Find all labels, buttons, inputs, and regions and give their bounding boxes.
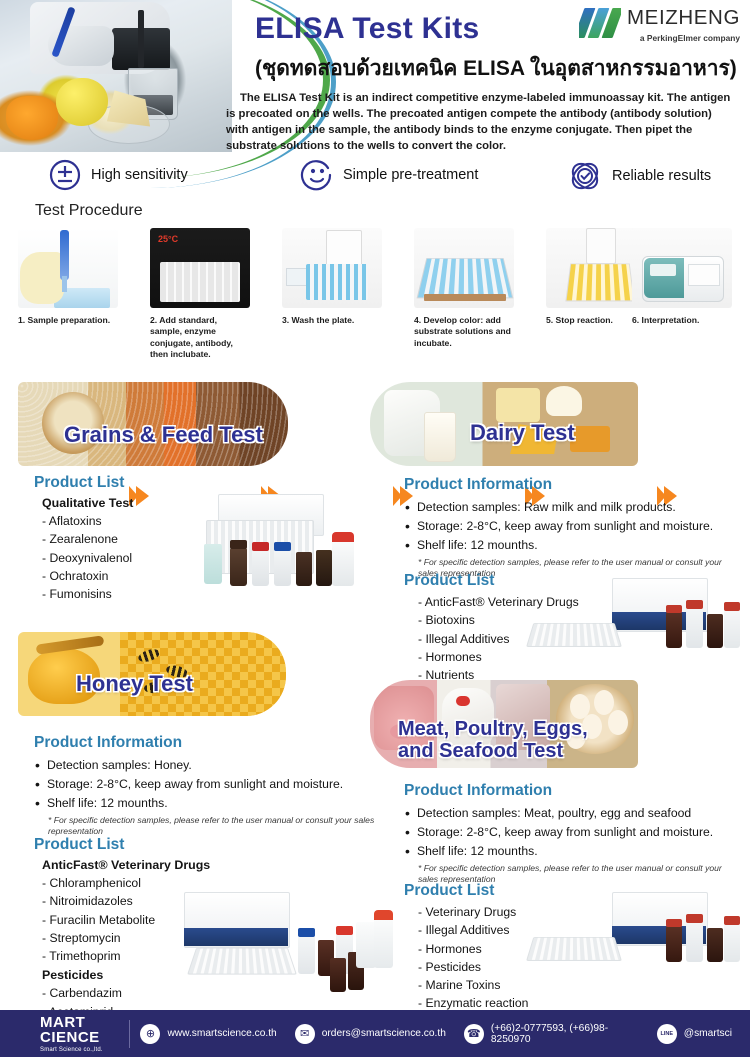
step-caption: 2. Add standard, sample, enzyme conjugat… [150,315,250,360]
step-image-interpretation [632,228,732,308]
info-item: Shelf life: 12 mounths. [34,794,384,813]
step-image-add-reagents: 25°C [150,228,250,308]
list-item: - Deoxynivalenol [42,549,209,567]
product-list-heading: Product List [34,474,209,492]
feature-label: Simple pre-treatment [343,167,478,183]
procedure-step-6: 6. Interpretation. [632,228,732,326]
list-subheading: AnticFast® Veterinary Drugs [42,858,234,872]
feature-reliable-results: Reliable results [567,158,711,194]
honey-product-info-block: Product Information Detection samples: H… [34,734,384,838]
page-subtitle-thai: (ชุดทดสอบด้วยเทคนิค ELISA ในอุตสาหกรรมอา… [255,52,737,85]
globe-icon: ⊕ [140,1024,160,1044]
step-caption: 1. Sample preparation. [18,315,118,326]
step-caption: 3. Wash the plate. [282,315,382,326]
procedure-step-2: 25°C 2. Add standard, sample, enzyme con… [150,228,250,360]
procedure-step-5: 5. Stop reaction. [546,228,646,326]
feature-simple-pretreatment: Simple pre-treatment [300,158,478,192]
footer-email-text: orders@smartscience.co.th [322,1028,446,1039]
feature-label: High sensitivity [91,167,188,183]
banner-title-line2: and Seafood Test [398,740,563,762]
check-target-icon [567,158,603,194]
banner-title: Meat, Poultry, Eggs, and Seafood Test [398,718,588,763]
list-item: - Aflatoxins [42,512,209,530]
banner-grains-feed: Grains & Feed Test [18,382,288,466]
meizheng-logo-mark [579,8,621,38]
step-image-wash-plate [282,228,382,308]
info-item: Storage: 2-8°C, keep away from sunlight … [404,517,740,536]
footer-line-id[interactable]: LINE @smartsci [657,1024,732,1044]
banner-title: Honey Test [76,671,193,697]
procedure-step-1: 1. Sample preparation. [18,228,118,326]
footer-line-text: @smartsci [684,1028,732,1039]
smiley-face-icon [300,158,334,192]
list-item: - Veterinary Drugs [418,903,614,921]
envelope-icon: ✉ [295,1024,315,1044]
step-caption: 6. Interpretation. [632,315,732,326]
banner-title: Grains & Feed Test [64,422,263,448]
line-chat-icon: LINE [657,1024,677,1044]
logo-line-3: Smart Science co.,ltd. [40,1047,127,1053]
list-item: - Ochratoxin [42,567,209,585]
page-title: ELISA Test Kits [255,12,480,46]
step-image-develop-color [414,228,514,308]
footer-contact-bar: MART CIENCE Smart Science co.,ltd. ⊕ www… [0,1010,750,1057]
incubator-temperature: 25°C [158,234,178,244]
list-item: - Fumonisins [42,585,209,603]
banner-title-line1: Meat, Poultry, Eggs, [398,718,588,740]
product-list-heading: Product List [404,882,614,900]
procedure-step-3: 3. Wash the plate. [282,228,382,326]
product-info-heading: Product Information [404,476,740,494]
info-item: Shelf life: 12 mounths. [404,842,740,861]
info-item: Shelf life: 12 mounths. [404,536,740,555]
product-kit-photo-grains [196,492,356,604]
footer-website-text: www.smartscience.co.th [167,1028,276,1039]
feature-list: High sensitivity Simple pre-treatment Re… [0,158,750,200]
banner-dairy: Dairy Test [370,382,638,466]
footer-website[interactable]: ⊕ www.smartscience.co.th [140,1024,276,1044]
step-image-sample-preparation [18,228,118,308]
footer-phone[interactable]: ☎ (+66)2-0777593, (+66)98-8250970 [464,1023,639,1045]
feature-high-sensitivity: High sensitivity [48,158,188,192]
intro-paragraph: The ELISA Test Kit is an indirect compet… [226,90,736,154]
meat-product-info-block: Product Information Detection samples: M… [404,782,740,886]
list-item: - Hormones [418,648,614,666]
product-list-heading: Product List [34,836,234,854]
product-kit-photo-dairy [600,578,740,670]
brand-tagline: a PerkingElmer company [627,33,740,43]
brand-name: MEIZHENG [627,8,740,29]
info-item: Detection samples: Raw milk and milk pro… [404,498,740,517]
dairy-product-info-block: Product Information Detection samples: R… [404,476,740,580]
test-procedure-title: Test Procedure [35,202,143,220]
logo-line-1: MART [40,1015,127,1030]
list-subheading: Qualitative Test [42,496,209,510]
step-image-stop-reaction [546,228,646,308]
list-item: - Chloramphenicol [42,874,234,892]
list-item: - Zearalenone [42,530,209,548]
feature-label: Reliable results [612,168,711,184]
grains-product-list-block: Product List Qualitative Test - Aflatoxi… [34,474,209,603]
info-note: * For specific detection samples, please… [48,815,384,838]
list-item: - Marine Toxins [418,976,614,994]
banner-title: Dairy Test [470,420,575,446]
info-item: Storage: 2-8°C, keep away from sunlight … [34,775,384,794]
meizheng-logo: MEIZHENG a PerkingElmer company [579,8,740,43]
banner-honey: Honey Test [18,632,286,716]
logo-line-2: CIENCE [40,1030,127,1045]
list-item: - AnticFast® Veterinary Drugs [418,593,614,611]
footer-phone-text: (+66)2-0777593, (+66)98-8250970 [491,1023,639,1045]
info-item: Detection samples: Meat, poultry, egg an… [404,804,740,823]
product-list-heading: Product List [404,572,614,590]
phone-icon: ☎ [464,1024,484,1044]
product-kit-photo-meat [600,892,740,992]
procedure-step-4: 4. Develop color: add substrate solution… [414,228,514,349]
product-info-heading: Product Information [34,734,384,752]
step-caption: 4. Develop color: add substrate solution… [414,315,514,349]
footer-email[interactable]: ✉ orders@smartscience.co.th [295,1024,446,1044]
smart-science-logo: MART CIENCE Smart Science co.,ltd. [40,1015,127,1053]
footer-divider [129,1020,130,1048]
banner-meat-poultry-eggs-seafood: Meat, Poultry, Eggs, and Seafood Test [370,680,638,768]
product-info-heading: Product Information [404,782,740,800]
step-caption: 5. Stop reaction. [546,315,646,326]
product-kit-photo-honey [178,892,393,1004]
info-item: Storage: 2-8°C, keep away from sunlight … [404,823,740,842]
info-item: Detection samples: Honey. [34,756,384,775]
plus-minus-balance-icon [48,158,82,192]
